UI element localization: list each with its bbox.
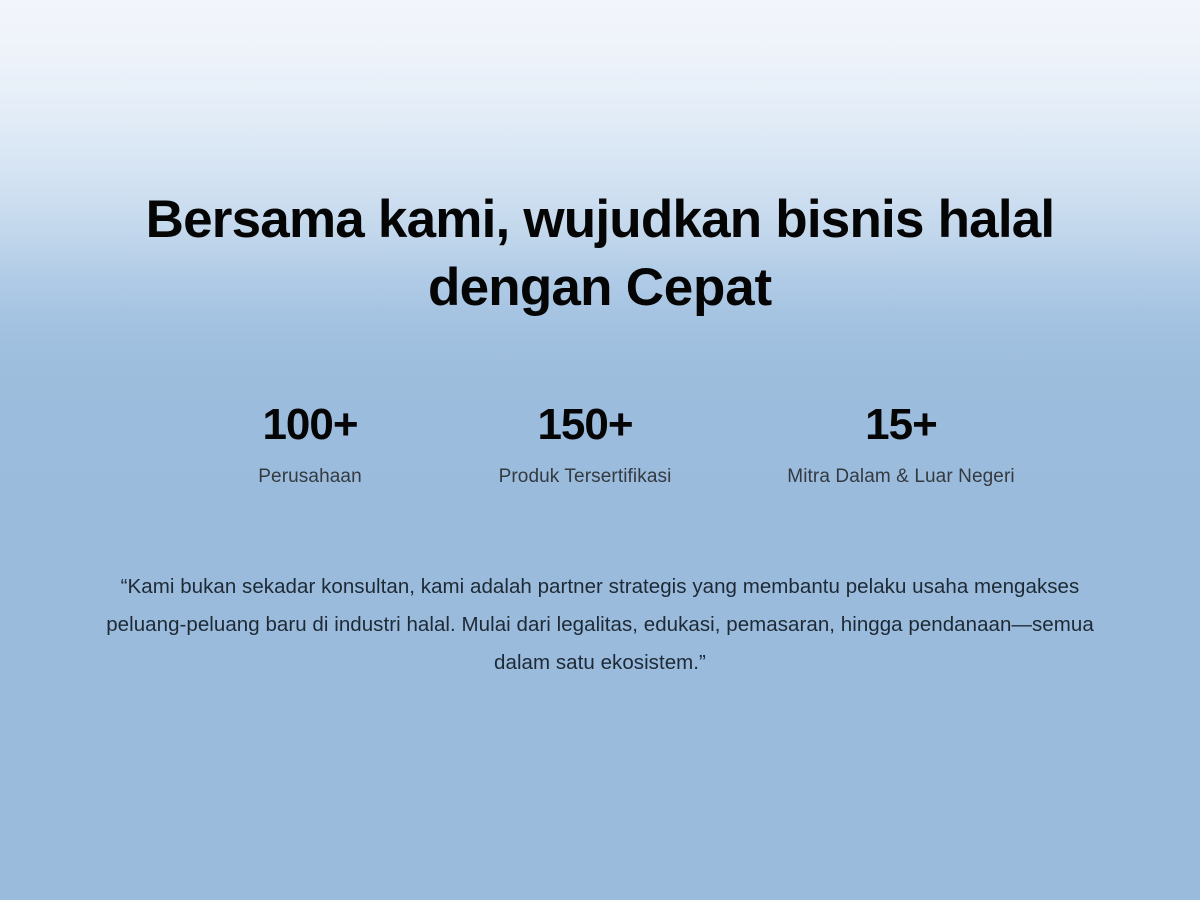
stat-item-produk-tersertifikasi: 150+ Produk Tersertifikasi	[435, 398, 735, 490]
stat-label: Mitra Dalam & Luar Negeri	[736, 464, 1066, 490]
stat-label: Produk Tersertifikasi	[435, 464, 735, 490]
stat-item-perusahaan: 100+ Perusahaan	[186, 398, 434, 490]
headline-line-2: denganCepat	[70, 254, 1130, 322]
headline-line-2-prefix: dengan	[428, 258, 612, 317]
hero-section: Bersama kami, wujudkan bisnis halal deng…	[0, 0, 1200, 900]
stat-value: 100+	[186, 398, 434, 452]
stat-item-mitra: 15+ Mitra Dalam & Luar Negeri	[736, 398, 1066, 490]
page-title: Bersama kami, wujudkan bisnis halal deng…	[70, 186, 1130, 322]
headline-line-1: Bersama kami, wujudkan bisnis halal	[70, 186, 1130, 254]
stats-row: 100+ Perusahaan 150+ Produk Tersertifika…	[186, 398, 1066, 490]
hero-content-wrapper: Bersama kami, wujudkan bisnis halal deng…	[0, 0, 1200, 900]
stat-value: 15+	[736, 398, 1066, 452]
headline-accent-word: Cepat	[612, 258, 772, 317]
stat-value: 150+	[435, 398, 735, 452]
stat-label: Perusahaan	[186, 464, 434, 490]
hero-quote: “Kami bukan sekadar konsultan, kami adal…	[100, 568, 1100, 682]
